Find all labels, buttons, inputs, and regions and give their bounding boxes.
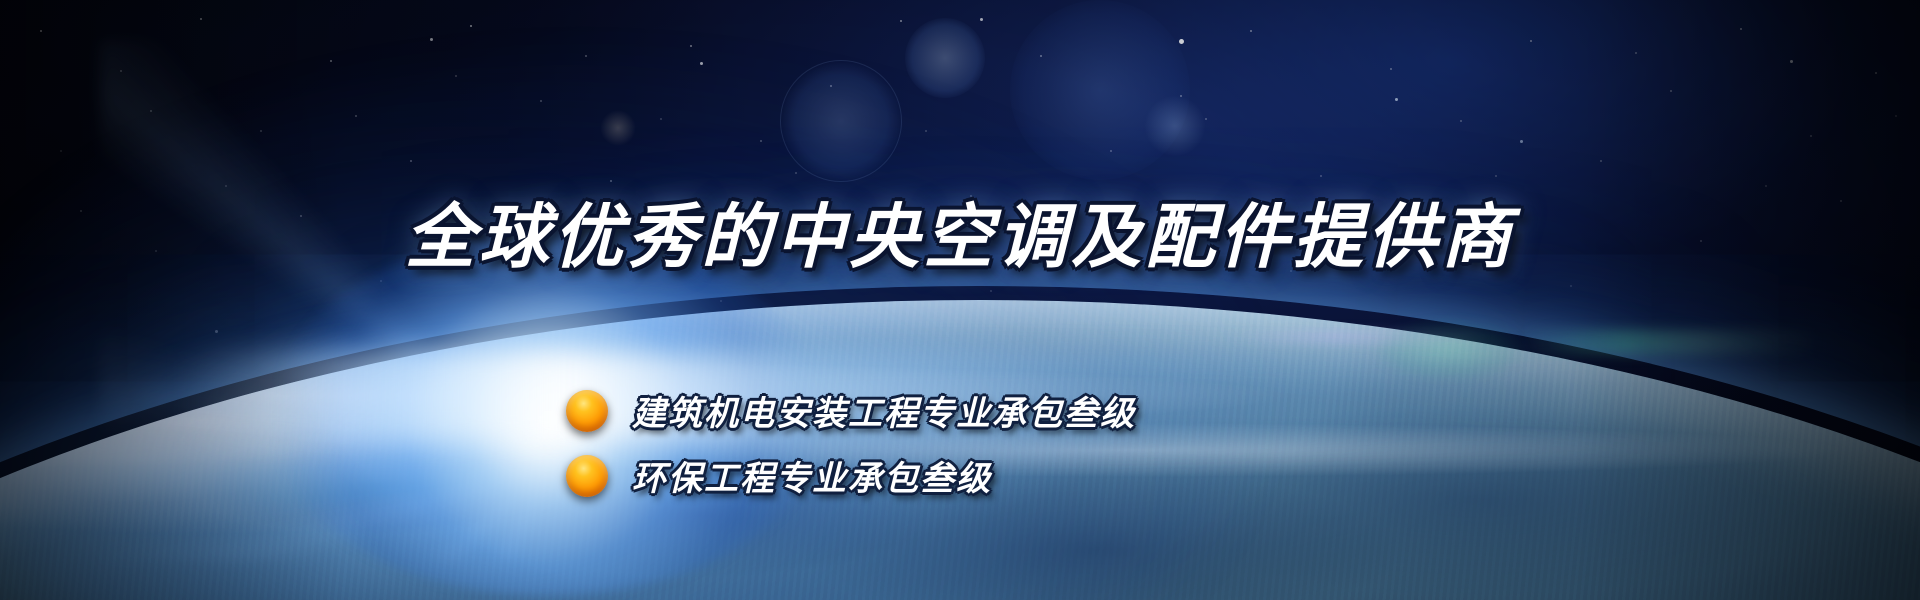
banner-headline: 全球优秀的中央空调及配件提供商 — [0, 202, 1920, 272]
list-item-label: 环保工程专业承包叁级 — [632, 451, 992, 500]
list-item-label: 建筑机电安装工程专业承包叁级 — [632, 386, 1136, 435]
feature-list: 建筑机电安装工程专业承包叁级 环保工程专业承包叁级 — [566, 386, 1136, 500]
hero-banner: 全球优秀的中央空调及配件提供商 建筑机电安装工程专业承包叁级 环保工程专业承包叁… — [0, 0, 1920, 600]
list-item: 环保工程专业承包叁级 — [566, 451, 1136, 500]
banner-content: 全球优秀的中央空调及配件提供商 建筑机电安装工程专业承包叁级 环保工程专业承包叁… — [0, 0, 1920, 600]
orange-dot-icon — [566, 390, 608, 432]
list-item: 建筑机电安装工程专业承包叁级 — [566, 386, 1136, 435]
orange-dot-icon — [566, 455, 608, 497]
